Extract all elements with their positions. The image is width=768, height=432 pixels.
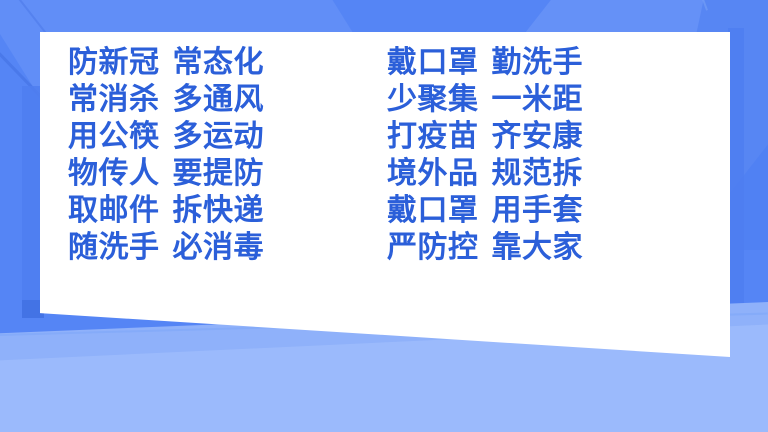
slogan-phrase: 戴口罩 <box>387 44 479 81</box>
decoration-top-right-hairline-secondary <box>638 0 708 11</box>
slogan-phrase: 用手套 <box>492 192 584 229</box>
slogan-line: 取邮件 拆快递 <box>68 192 319 229</box>
decoration-right-side-band <box>728 28 744 358</box>
decoration-right-side-band-shadow <box>728 330 744 356</box>
slogan-line: 境外品 规范拆 <box>387 155 638 192</box>
slogan-line: 少聚集 一米距 <box>387 81 638 118</box>
slogan-phrase: 境外品 <box>387 155 479 192</box>
slogan-phrase: 齐安康 <box>492 118 584 155</box>
slogan-line: 随洗手 必消毒 <box>68 229 319 266</box>
slogan-phrase: 常消杀 <box>68 81 160 118</box>
slogan-phrase: 靠大家 <box>492 229 584 266</box>
slogan-phrase: 打疫苗 <box>387 118 479 155</box>
slogan-phrase: 必消毒 <box>173 229 265 266</box>
slogan-phrase: 常态化 <box>173 44 265 81</box>
slogan-line: 严防控 靠大家 <box>387 229 638 266</box>
slogan-line: 用公筷 多运动 <box>68 118 319 155</box>
slogan-line: 常消杀 多通风 <box>68 81 319 118</box>
slogan-phrase: 随洗手 <box>68 229 160 266</box>
slogan-line: 物传人 要提防 <box>68 155 319 192</box>
slogan-phrase: 防新冠 <box>68 44 160 81</box>
slogan-line: 戴口罩 用手套 <box>387 192 638 229</box>
slogan-phrase: 一米距 <box>492 81 584 118</box>
slogan-phrase: 规范拆 <box>492 155 584 192</box>
slogan-phrase: 多运动 <box>173 118 265 155</box>
slogan-phrase: 取邮件 <box>68 192 160 229</box>
slogan-phrase: 多通风 <box>173 81 265 118</box>
slogan-phrase: 戴口罩 <box>387 192 479 229</box>
slogan-column-left: 防新冠 常态化 常消杀 多通风 用公筷 多运动 物传人 要提防 取邮件 拆快递 … <box>68 44 319 266</box>
slogan-phrase: 用公筷 <box>68 118 160 155</box>
slogan-phrase: 勤洗手 <box>492 44 584 81</box>
slogan-line: 打疫苗 齐安康 <box>387 118 638 155</box>
slogan-phrase: 拆快递 <box>173 192 265 229</box>
slogan-phrase: 物传人 <box>68 155 160 192</box>
slogan-phrase: 少聚集 <box>387 81 479 118</box>
slogan-phrase: 要提防 <box>173 155 265 192</box>
slogan-grid: 防新冠 常态化 常消杀 多通风 用公筷 多运动 物传人 要提防 取邮件 拆快递 … <box>68 44 638 266</box>
slogan-phrase: 严防控 <box>387 229 479 266</box>
slogan-line: 防新冠 常态化 <box>68 44 319 81</box>
slogan-column-right: 戴口罩 勤洗手 少聚集 一米距 打疫苗 齐安康 境外品 规范拆 戴口罩 用手套 … <box>387 44 638 266</box>
poster-canvas: 防新冠 常态化 常消杀 多通风 用公筷 多运动 物传人 要提防 取邮件 拆快递 … <box>0 0 768 432</box>
slogan-line: 戴口罩 勤洗手 <box>387 44 638 81</box>
